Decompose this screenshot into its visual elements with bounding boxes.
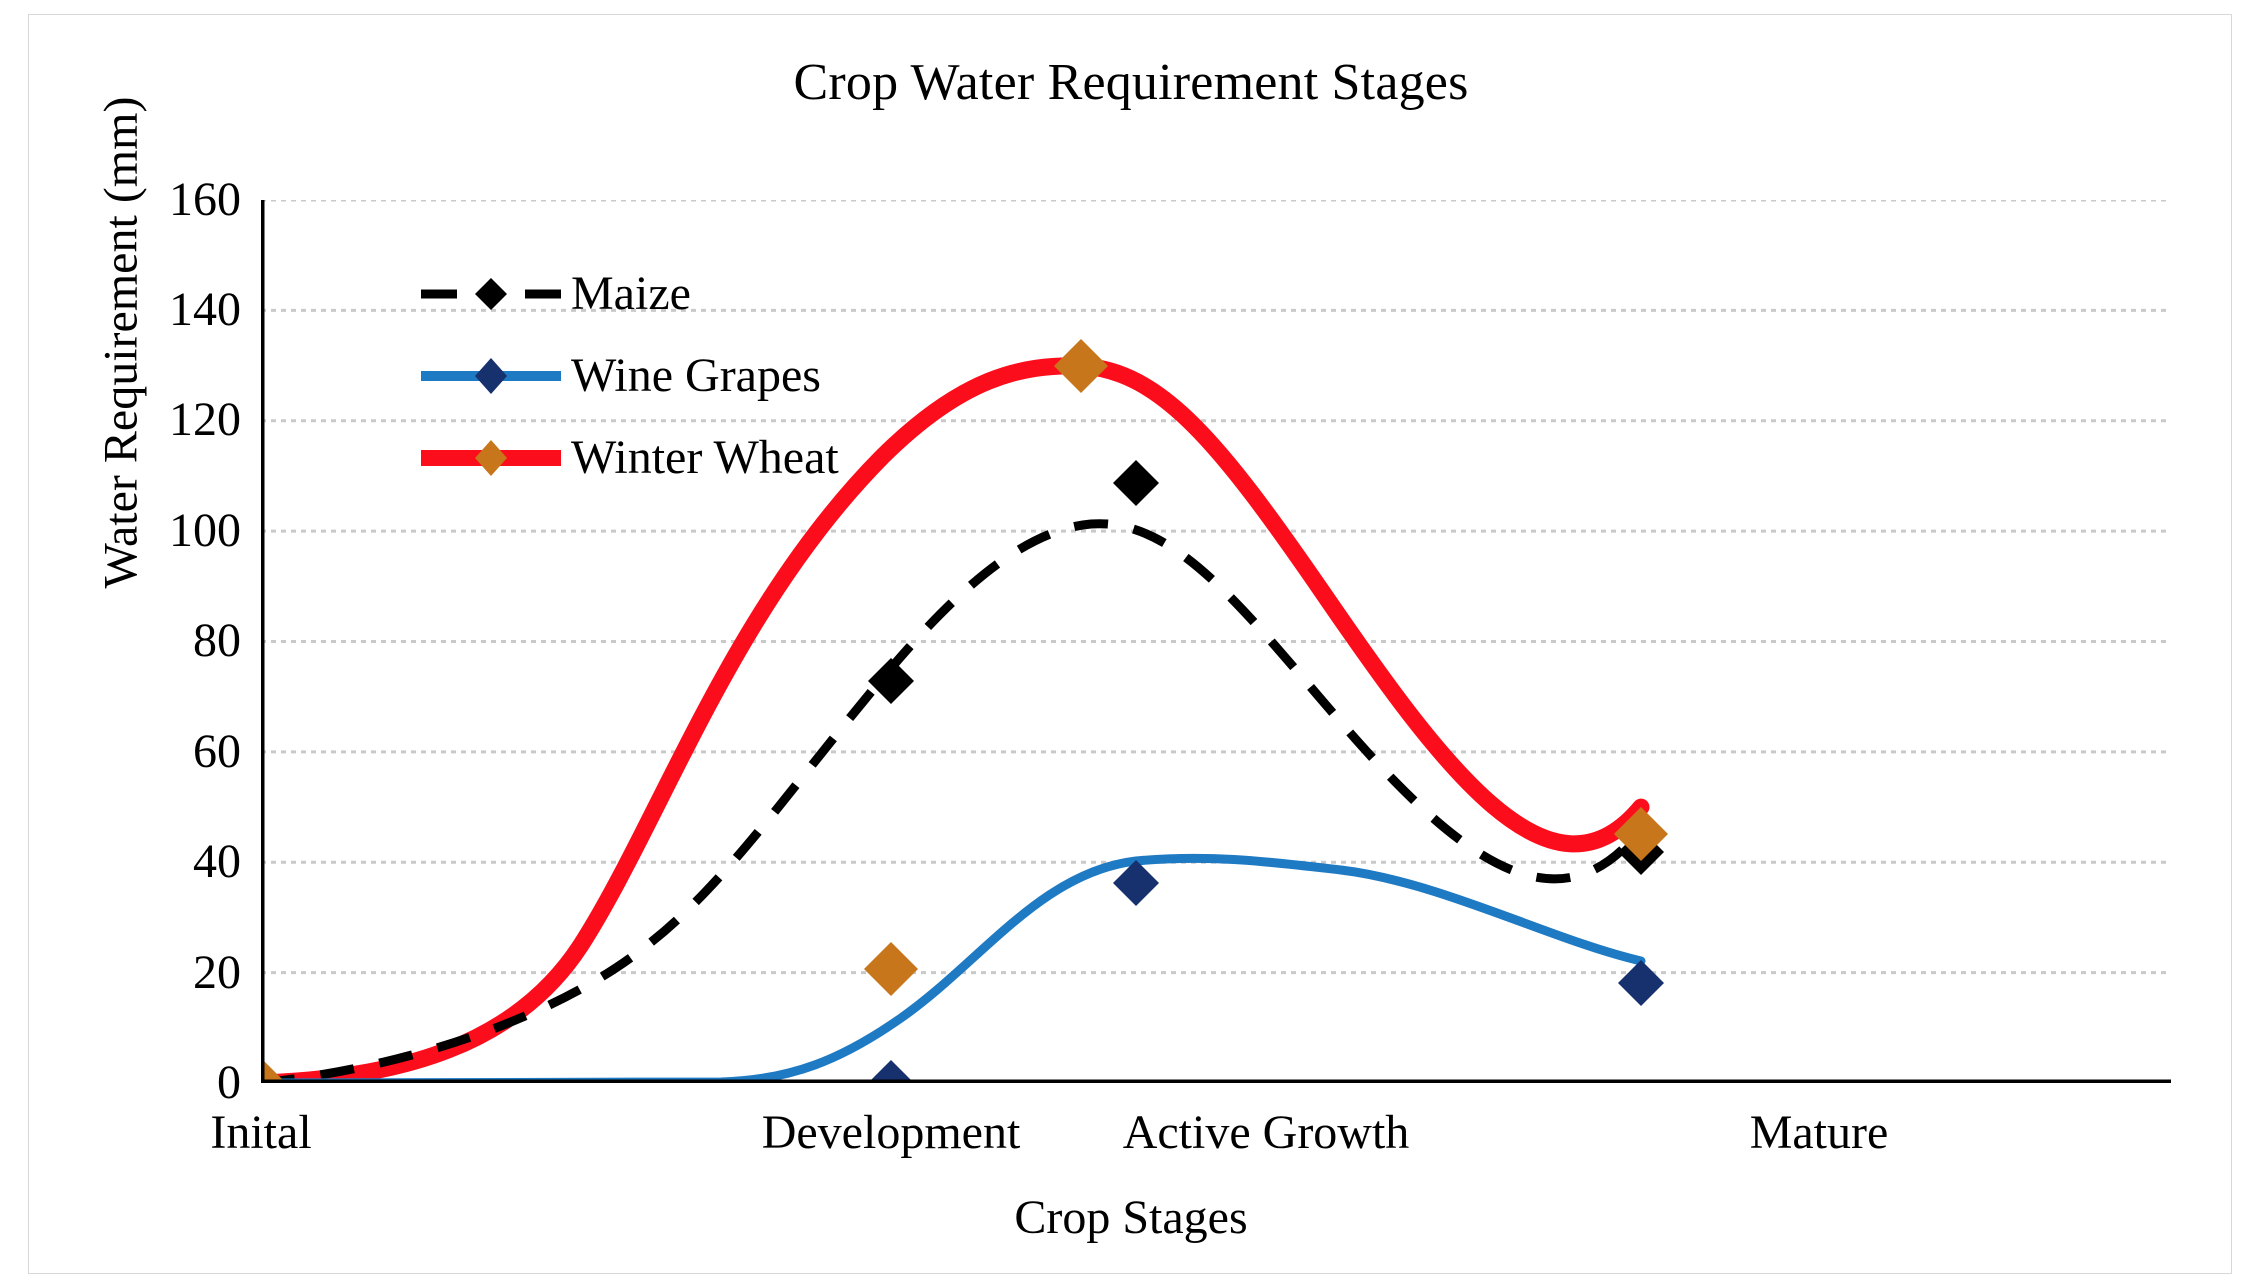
x-tick-label-inital: Inital <box>210 1105 311 1160</box>
chart-legend: Maize Wine Grapes Wint <box>417 253 977 499</box>
chart-title: Crop Water Requirement Stages <box>29 53 2233 112</box>
series-line-maize <box>261 524 1641 1083</box>
y-tick-label-80: 80 <box>41 617 241 665</box>
x-tick-label-mature: Mature <box>1750 1105 1889 1160</box>
x-axis-title: Crop Stages <box>29 1190 2233 1245</box>
legend-swatch-winter-wheat <box>417 436 565 480</box>
legend-swatch-wine-grapes <box>417 354 565 398</box>
legend-item-maize[interactable]: Maize <box>417 253 977 335</box>
legend-item-wine-grapes[interactable]: Wine Grapes <box>417 335 977 417</box>
y-tick-label-100: 100 <box>41 507 241 555</box>
y-tick-label-60: 60 <box>41 728 241 776</box>
x-tick-label-active-growth: Active Growth <box>1123 1105 1410 1160</box>
y-tick-label-140: 140 <box>41 286 241 334</box>
y-tick-label-20: 20 <box>41 949 241 997</box>
x-axis-tick-labels: Inital Development Active Growth Mature <box>261 1105 2171 1175</box>
legend-label-maize: Maize <box>571 270 691 318</box>
legend-item-winter-wheat[interactable]: Winter Wheat <box>417 417 977 499</box>
y-tick-label-40: 40 <box>41 838 241 886</box>
legend-label-winter-wheat: Winter Wheat <box>571 434 839 482</box>
chart-figure: Crop Water Requirement Stages Water Requ… <box>0 0 2260 1288</box>
y-tick-label-160: 160 <box>41 176 241 224</box>
legend-swatch-maize <box>417 272 565 316</box>
chart-frame: Crop Water Requirement Stages Water Requ… <box>28 14 2232 1274</box>
legend-label-wine-grapes: Wine Grapes <box>571 352 821 400</box>
x-tick-label-development: Development <box>762 1105 1021 1160</box>
y-tick-label-120: 120 <box>41 396 241 444</box>
y-tick-label-0: 0 <box>41 1059 241 1107</box>
y-axis-tick-labels: 160 140 120 100 80 60 40 20 0 <box>29 15 241 1275</box>
